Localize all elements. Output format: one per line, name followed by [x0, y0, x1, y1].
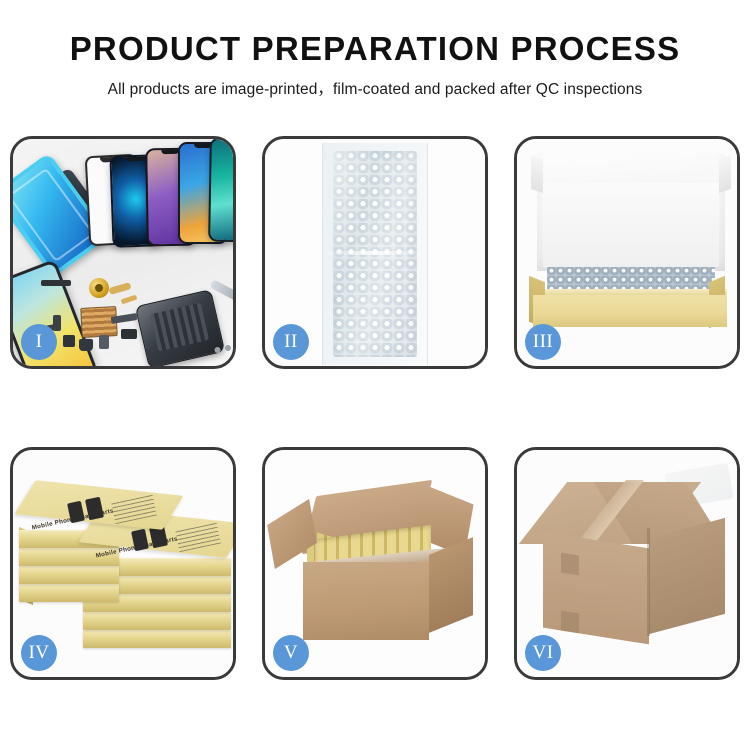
spare-part	[41, 280, 71, 286]
phone-notch-icon	[225, 140, 233, 144]
step-badge-5: V	[273, 635, 309, 671]
step-panel-4: Mobile Phone Spare Parts Mobile Phone Sp…	[10, 447, 236, 680]
spare-part	[121, 329, 137, 339]
box-stack: Mobile Phone Spare Parts Mobile Phone Sp…	[17, 474, 233, 664]
carton-handle-tab	[561, 611, 579, 634]
box-layer	[83, 630, 231, 648]
step-panel-1: I	[10, 136, 236, 369]
carton-right-face	[429, 537, 473, 633]
step-badge-4: IV	[21, 635, 57, 671]
speaker-coil-part	[89, 278, 109, 298]
carton-handle-tab	[561, 553, 579, 576]
carton-right-face	[649, 518, 725, 634]
spare-part	[63, 335, 75, 347]
product-preparation-infographic: PRODUCT PREPARATION PROCESS All products…	[0, 0, 750, 750]
spare-part	[99, 335, 109, 349]
spare-part	[108, 282, 131, 295]
box-layer	[83, 612, 231, 630]
spare-part	[79, 339, 93, 351]
phone-chassis-open	[135, 289, 225, 366]
carton-front-face	[303, 562, 429, 640]
page-title: PRODUCT PREPARATION PROCESS	[0, 30, 750, 68]
phone-notch-icon	[161, 150, 179, 154]
box-front-face	[533, 295, 727, 327]
box-layer	[19, 584, 119, 602]
page-subtitle: All products are image-printed，film-coat…	[0, 77, 750, 99]
step-badge-3: III	[525, 324, 561, 360]
screws-group	[213, 345, 233, 355]
step-panel-2: II	[262, 136, 488, 369]
phone-notch-icon	[125, 157, 143, 162]
step-panel-3: III	[514, 136, 740, 369]
bag-seam	[327, 251, 423, 255]
step-badge-1: I	[21, 324, 57, 360]
carton-edge	[647, 528, 650, 636]
step-panel-6: VI	[514, 447, 740, 680]
foam-insert	[543, 183, 719, 267]
spare-part	[121, 295, 138, 305]
step-panel-5: V	[262, 447, 488, 680]
steps-grid: I II III	[10, 136, 740, 680]
step-badge-2: II	[273, 324, 309, 360]
header: PRODUCT PREPARATION PROCESS All products…	[0, 0, 750, 99]
box-layer	[19, 566, 119, 584]
phone-display-4	[208, 139, 233, 242]
step-badge-6: VI	[525, 635, 561, 671]
carton-front-face	[543, 532, 649, 645]
